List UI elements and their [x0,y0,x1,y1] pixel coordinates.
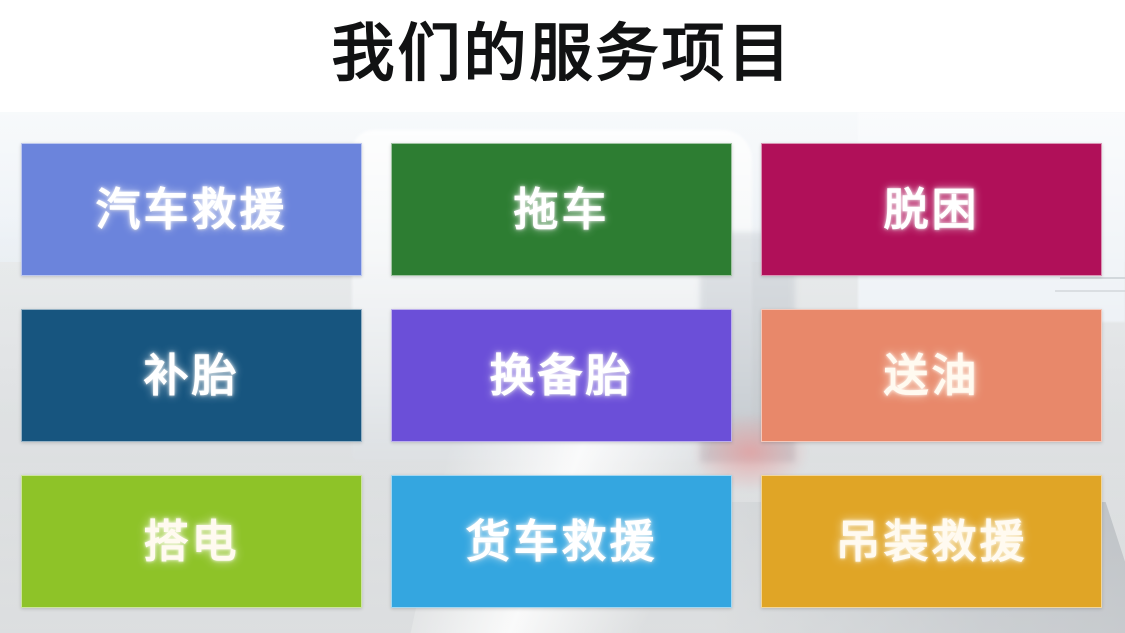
service-tile-spare-tire-change[interactable]: 换备胎 [391,309,732,442]
service-tile-car-rescue[interactable]: 汽车救援 [21,143,362,276]
service-tile-tire-repair[interactable]: 补胎 [21,309,362,442]
poster-header: 我们的服务项目 [0,0,1125,112]
service-tile-fuel-delivery[interactable]: 送油 [761,309,1102,442]
service-poster: 我们的服务项目 汽车救援 拖车 脱困 补胎 换备胎 送油 搭电 货车救援 吊装救… [0,0,1125,633]
service-tile-extrication[interactable]: 脱困 [761,143,1102,276]
service-tile-label: 搭电 [143,519,239,564]
service-tile-label: 换备胎 [489,353,633,398]
page-title: 我们的服务项目 [332,22,794,91]
service-tile-label: 汽车救援 [95,187,287,232]
service-tile-label: 补胎 [143,353,239,398]
service-tile-label: 拖车 [513,187,609,232]
service-tile-label: 货车救援 [465,519,657,564]
service-tile-label: 吊装救援 [835,519,1027,564]
service-tile-tow-truck[interactable]: 拖车 [391,143,732,276]
service-tile-label: 脱困 [883,187,979,232]
service-tile-truck-rescue[interactable]: 货车救援 [391,475,732,608]
service-tile-hoisting-rescue[interactable]: 吊装救援 [761,475,1102,608]
service-tile-jump-start[interactable]: 搭电 [21,475,362,608]
service-grid: 汽车救援 拖车 脱困 补胎 换备胎 送油 搭电 货车救援 吊装救援 [21,143,1103,608]
service-tile-label: 送油 [883,353,979,398]
